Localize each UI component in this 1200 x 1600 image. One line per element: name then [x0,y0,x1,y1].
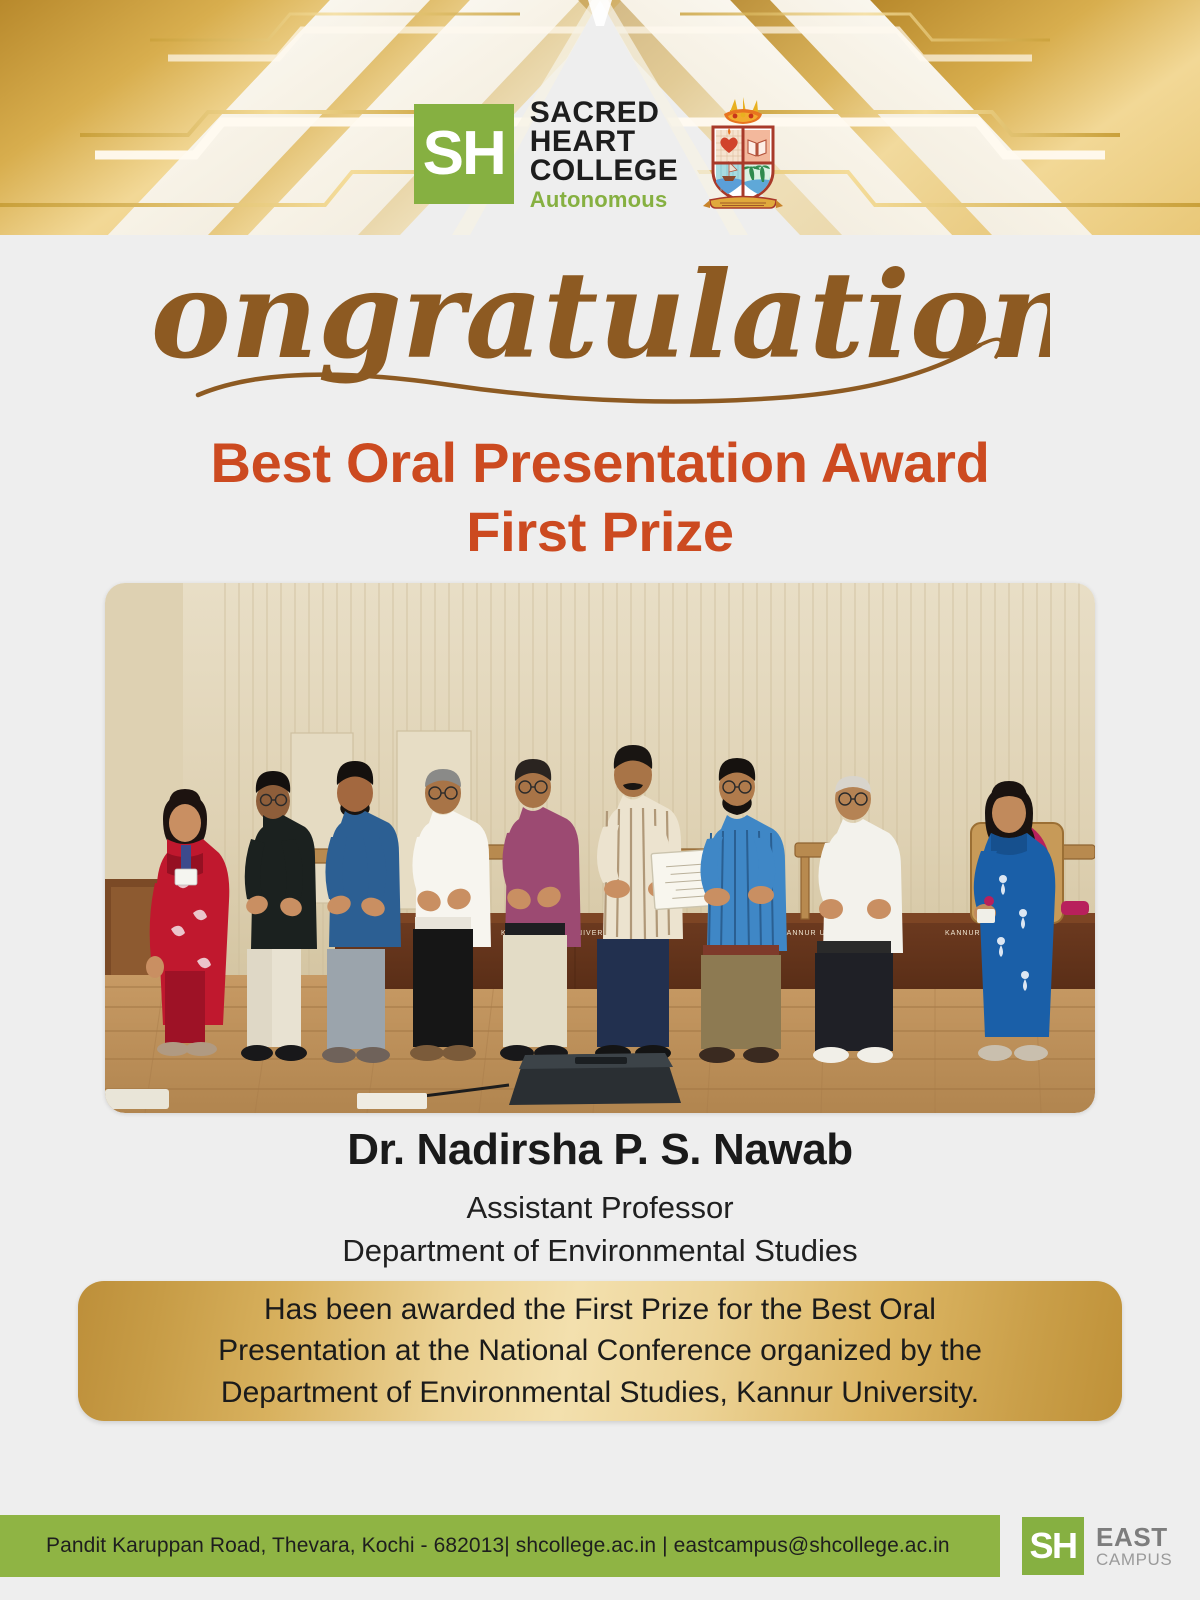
congratulations-heading: Congratulations [0,245,1200,425]
award-title: Best Oral Presentation Award First Prize [0,428,1200,567]
footer-sh-monogram-text: SH [1029,1528,1076,1564]
footer-sh-monogram-box: SH [1022,1517,1084,1575]
footer-campus-label: EAST CAMPUS [1096,1524,1172,1568]
awardee-name: Dr. Nadirsha P. S. Nawab [0,1125,1200,1175]
award-title-line-1: Best Oral Presentation Award [0,428,1200,497]
footer-contact-text: Pandit Karuppan Road, Thevara, Kochi - 6… [46,1534,950,1558]
awardee-details: Assistant Professor Department of Enviro… [0,1186,1200,1273]
awardee-designation: Assistant Professor [0,1186,1200,1229]
citation-line-1: Has been awarded the First Prize for the… [218,1289,982,1330]
sh-monogram-text: SH [423,123,505,185]
citation-line-2: Presentation at the National Conference … [218,1330,982,1371]
sh-monogram-box: SH [414,104,514,204]
college-name-block: SACRED HEART COLLEGE Autonomous [530,98,679,211]
college-logo: SH SACRED HEART COLLEGE Autonomous [0,96,1200,212]
college-name-line-3: COLLEGE [530,156,679,185]
citation-line-3: Department of Environmental Studies, Kan… [218,1372,982,1413]
autonomous-label: Autonomous [530,189,679,211]
awardee-department: Department of Environmental Studies [0,1229,1200,1272]
college-name-line-2: HEART [530,127,679,156]
award-title-line-2: First Prize [0,497,1200,566]
citation-text: Has been awarded the First Prize for the… [192,1289,1008,1412]
congratulations-text: Congratulations [150,245,1050,386]
footer-campus-line-2: CAMPUS [1096,1551,1172,1568]
award-ceremony-photo: KANNUR U UNIVERSITY KANNUR UNIVERSITY K … [105,583,1095,1113]
footer-east-campus-logo: SH EAST CAMPUS [1000,1515,1200,1577]
college-crest-icon [700,96,786,212]
citation-banner: Has been awarded the First Prize for the… [78,1281,1122,1421]
footer-campus-line-1: EAST [1096,1524,1172,1551]
college-name-line-1: SACRED [530,98,679,127]
footer-contact-bar: Pandit Karuppan Road, Thevara, Kochi - 6… [0,1515,1000,1577]
footer: Pandit Karuppan Road, Thevara, Kochi - 6… [0,1515,1200,1577]
